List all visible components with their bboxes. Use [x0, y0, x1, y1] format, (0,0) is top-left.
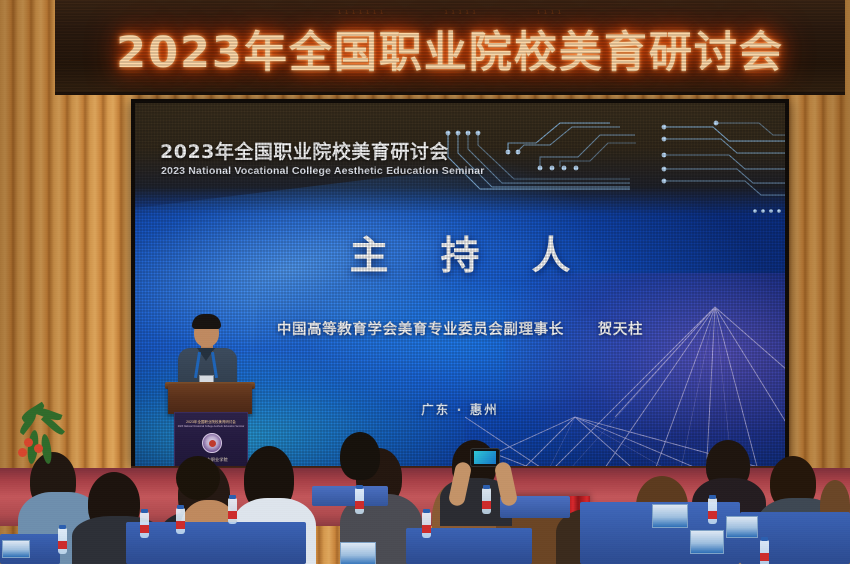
screen-host-name: 贺天柱 [598, 322, 643, 338]
plant-flower [24, 438, 33, 447]
bottle-cap [59, 525, 66, 529]
smartphone [470, 448, 500, 467]
bottle-cap [229, 495, 236, 499]
speaker-hair [192, 314, 221, 329]
podium-banner-title: 2023年全国职业院校美育研讨会 [175, 419, 247, 424]
podium-wooden-top [168, 384, 252, 414]
water-bottle [355, 488, 364, 514]
audience-head [176, 456, 220, 500]
decorative-plant [10, 408, 74, 478]
audience-table [312, 486, 388, 506]
school-emblem-icon [202, 433, 222, 453]
bottle-cap [141, 509, 148, 513]
bottle-cap [709, 495, 716, 499]
water-bottle [422, 512, 431, 538]
water-bottle [228, 498, 237, 524]
bottle-cap [356, 485, 363, 489]
bottle-cap [423, 509, 430, 513]
bottle-cap [483, 485, 490, 489]
screen-title-cn: 2023年全国职业院校美育研讨会 [160, 137, 449, 164]
screen-host-label: 主持人 [135, 225, 785, 281]
water-bottle [760, 540, 769, 564]
plant-flower [34, 444, 43, 453]
water-bottle [58, 528, 67, 554]
water-bottle [176, 508, 185, 534]
led-dim-text-left: 1 1 1 1 1 1 1 [338, 10, 384, 16]
screen-purple-glow [505, 273, 785, 467]
water-bottle [708, 498, 717, 524]
table-name-card [2, 540, 30, 558]
podium-banner-subtitle: 2023 National Vocational College Aesthet… [175, 425, 247, 428]
water-bottle [140, 512, 149, 538]
water-bottle [482, 488, 491, 514]
speaker-at-podium: 2023年全国职业院校美育研讨会 2023 National Vocationa… [168, 312, 252, 467]
bottle-cap [177, 505, 184, 509]
led-marquee-banner: 1 1 1 1 1 1 1 1 1 1 1 1 1 1 1 1 2023年全国职… [55, 0, 845, 95]
led-banner-title: 2023年全国职业院校美育研讨会 [55, 18, 845, 80]
phone-screen [474, 451, 496, 464]
audience-head [340, 432, 380, 480]
led-dim-text-mid: 1 1 1 1 1 [444, 10, 476, 16]
table-name-card [652, 504, 688, 528]
table-name-card [340, 542, 376, 564]
table-name-card [726, 516, 758, 538]
conference-hall-photo: 1 1 1 1 1 1 1 1 1 1 1 1 1 1 1 1 2023年全国职… [0, 0, 850, 564]
audience-table [126, 522, 306, 564]
bottle-cap [761, 537, 768, 541]
screen-title-en: 2023 National Vocational College Aesthet… [161, 165, 485, 177]
led-dim-text-right: 1 1 1 1 [537, 10, 562, 16]
table-name-card [690, 530, 724, 554]
screen-host-role: 中国高等教育学会美育专业委员会副理事长 [277, 322, 564, 338]
plant-flower [18, 448, 27, 457]
